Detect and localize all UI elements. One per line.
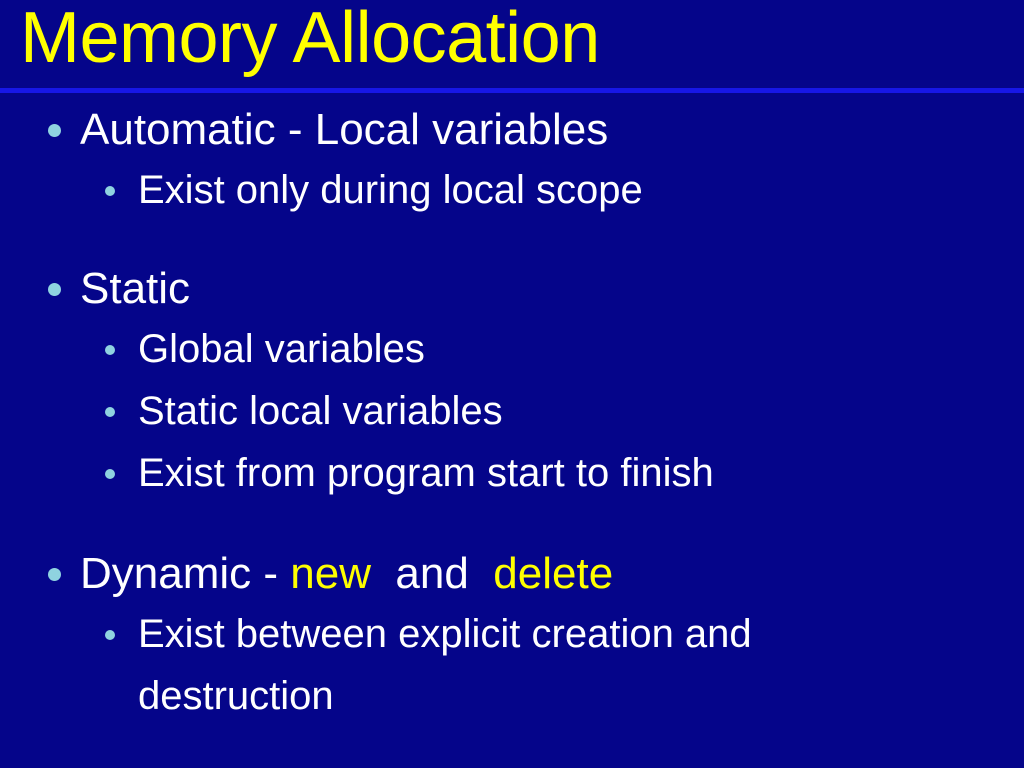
page-title: Memory Allocation <box>20 0 600 78</box>
bullet-level2-static-local-variables: Static local variables <box>0 380 1024 442</box>
bullet-dot-icon <box>48 283 61 296</box>
bullet-level1-static: Static <box>0 260 1024 318</box>
title-area: Memory Allocation <box>0 0 1024 88</box>
bullet-group-dynamic: Dynamic - new and delete Exist between e… <box>0 545 1024 727</box>
bullet-level1-dynamic: Dynamic - new and delete <box>0 545 1024 603</box>
bullet-label: Global variables <box>138 327 425 371</box>
bullet-label: Exist only during local scope <box>138 168 643 212</box>
bullet-dot-icon <box>105 186 115 196</box>
keyword-delete: delete <box>493 549 613 598</box>
bullet-level2-global-variables: Global variables <box>0 318 1024 380</box>
bullet-group-static: Static Global variables Static local var… <box>0 260 1024 504</box>
bullet-level2-exist-between-creation-destruction: Exist between explicit creation and dest… <box>0 603 1024 727</box>
bullet-label: Exist between explicit creation and dest… <box>138 612 763 718</box>
bullet-label: Exist from program start to finish <box>138 451 714 495</box>
bullet-label-middle: and <box>371 549 493 598</box>
bullet-dot-icon <box>48 124 61 137</box>
bullet-dot-icon <box>105 469 115 479</box>
bullet-dot-icon <box>105 407 115 417</box>
slide: Memory Allocation Automatic - Local vari… <box>0 0 1024 768</box>
bullet-label-lead: Dynamic - <box>80 549 290 598</box>
slide-body: Automatic - Local variables Exist only d… <box>0 93 1024 768</box>
bullet-dot-icon <box>105 630 115 640</box>
bullet-dot-icon <box>105 345 115 355</box>
bullet-level1-automatic: Automatic - Local variables <box>0 101 1024 159</box>
bullet-group-automatic: Automatic - Local variables Exist only d… <box>0 101 1024 221</box>
bullet-dot-icon <box>48 568 61 581</box>
bullet-label: Automatic - Local variables <box>80 105 608 154</box>
bullet-level2-exist-program-start-finish: Exist from program start to finish <box>0 442 1024 504</box>
bullet-level2-exist-local-scope: Exist only during local scope <box>0 159 1024 221</box>
keyword-new: new <box>290 549 371 598</box>
bullet-label: Static local variables <box>138 389 503 433</box>
bullet-label: Static <box>80 264 190 313</box>
